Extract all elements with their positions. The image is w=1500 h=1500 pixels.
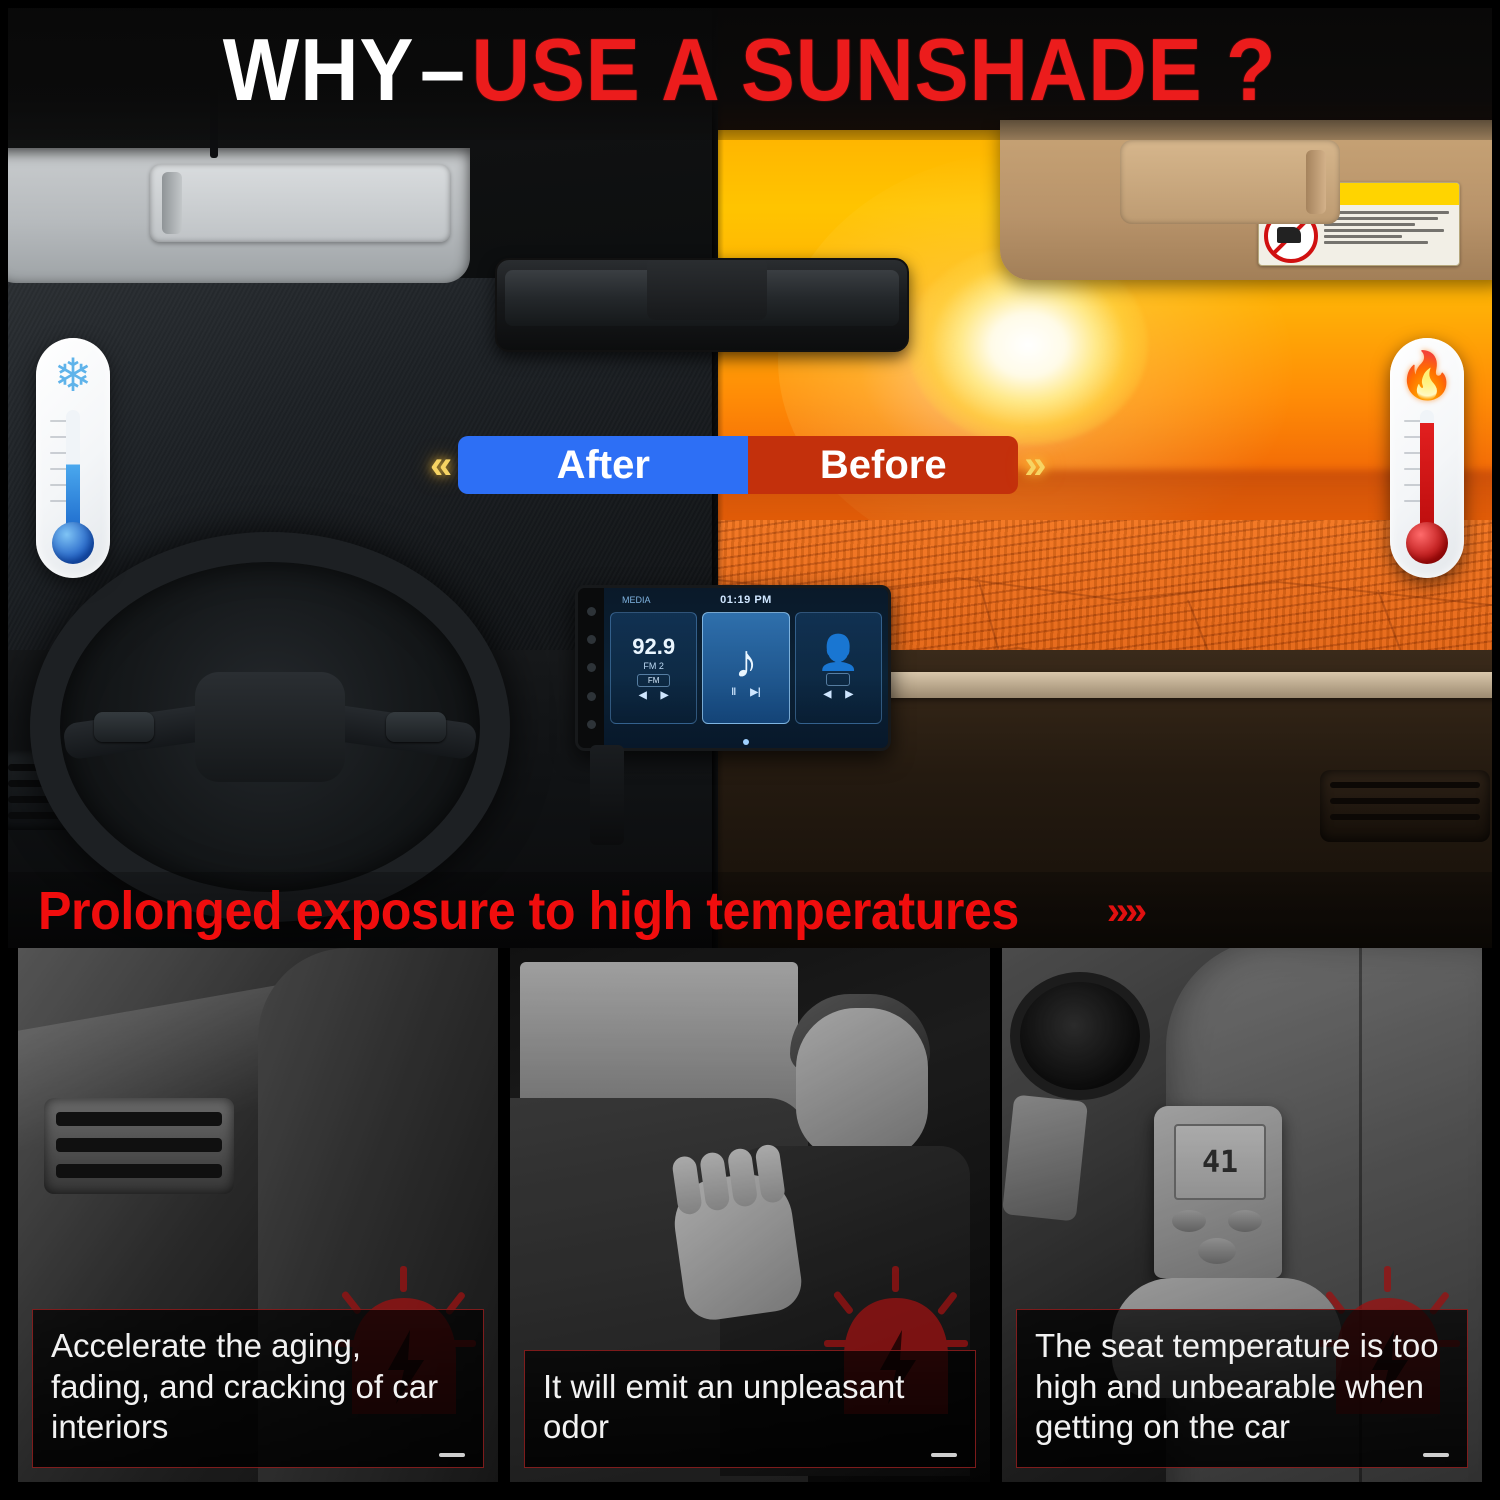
cold-thermometer: ❄	[36, 338, 110, 578]
contact-person-icon: 👤	[817, 636, 859, 670]
head-unit-tiles: 92.9 FM 2 FM ◀ ▶ ♪ ‖ ▶|	[610, 612, 882, 724]
card-odor: It will emit an unpleasant odor	[510, 948, 990, 1482]
radio-tile[interactable]: 92.9 FM 2 FM ◀ ▶	[610, 612, 697, 724]
card-seat-temp: 41 The se	[1002, 948, 1482, 1482]
hu-button-climate[interactable]	[587, 692, 596, 701]
thermometer-tube-cold	[66, 410, 80, 540]
hu-button-power[interactable]	[587, 607, 596, 616]
caption-tick	[1423, 1453, 1449, 1457]
caption-tick	[439, 1453, 465, 1457]
snowflake-icon: ❄	[54, 352, 93, 398]
hot-thermometer: 🔥	[1390, 338, 1464, 578]
media-controls[interactable]: ‖ ▶|	[731, 687, 760, 698]
air-vent-right	[1320, 770, 1490, 842]
media-tile[interactable]: ♪ ‖ ▶|	[702, 612, 789, 724]
head-unit-clock: 01:19 PM	[720, 594, 772, 606]
head-unit-mount-bracket	[590, 745, 624, 845]
radio-band: FM 2	[643, 661, 664, 671]
hu-button-home[interactable]	[587, 635, 596, 644]
music-note-icon: ♪	[734, 638, 757, 684]
rearview-mirror	[495, 258, 909, 352]
thermometer-button-right[interactable]	[1228, 1210, 1262, 1232]
flame-icon: 🔥	[1398, 352, 1455, 398]
caption-box-odor: It will emit an unpleasant odor	[524, 1350, 976, 1469]
hu-button-menu[interactable]	[587, 720, 596, 729]
warning-text-lines	[1324, 209, 1454, 263]
car-window	[520, 962, 798, 1112]
caption-tick	[931, 1453, 957, 1457]
page-title: WHY–USE A SUNSHADE ?	[223, 26, 1277, 114]
chevron-right-icon: »	[1024, 445, 1046, 485]
after-badge[interactable]: After	[458, 436, 748, 494]
headline-bar: WHY–USE A SUNSHADE ?	[0, 0, 1500, 140]
head-unit-source-label: MEDIA	[622, 595, 651, 605]
head-unit-status-bar: MEDIA 01:19 PM	[610, 592, 882, 608]
sun-visor-right: WARNING	[1000, 120, 1500, 280]
thermometer-button-mode[interactable]	[1198, 1238, 1236, 1264]
thermometer-bulb-cold	[52, 522, 94, 564]
caption-text-odor: It will emit an unpleasant odor	[543, 1367, 957, 1448]
thermometer-display: 41	[1174, 1124, 1266, 1200]
consequence-cards: Accelerate the aging, fading, and cracki…	[0, 948, 1500, 1500]
phone-prev-icon[interactable]: ◀	[824, 689, 832, 700]
caption-text-seat-temp: The seat temperature is too high and unb…	[1035, 1326, 1449, 1447]
caption-box-aging: Accelerate the aging, fading, and cracki…	[32, 1309, 484, 1468]
mirror-dashcam-module	[647, 258, 767, 320]
infrared-thermometer: 41	[1154, 1106, 1282, 1278]
before-badge[interactable]: Before	[748, 436, 1018, 494]
page-indicator-dot	[743, 739, 749, 745]
banner-prolonged-exposure: Prolonged exposure to high temperatures …	[0, 872, 1500, 950]
banner-chevrons-icon: »»	[1107, 889, 1144, 934]
phone-tile[interactable]: 👤 ◀ ▶	[795, 612, 882, 724]
before-after-toggle[interactable]: « After Before »	[430, 432, 1010, 498]
caption-box-seat-temp: The seat temperature is too high and unb…	[1016, 1309, 1468, 1468]
radio-preset-pill[interactable]: FM	[637, 674, 671, 687]
hu-button-media[interactable]	[587, 663, 596, 672]
infotainment-head-unit[interactable]: MEDIA 01:19 PM 92.9 FM 2 FM ◀ ▶ ♪	[575, 585, 891, 751]
thermometer-grip	[1002, 1094, 1088, 1221]
phone-controls[interactable]: ◀ ▶	[824, 689, 853, 700]
media-pause-icon[interactable]: ‖	[731, 687, 736, 698]
radio-frequency: 92.9	[632, 636, 675, 658]
card-aging: Accelerate the aging, fading, and cracki…	[18, 948, 498, 1482]
sun-visor-left	[0, 148, 470, 283]
title-phrase-red: USE A SUNSHADE ?	[472, 20, 1277, 119]
phone-status-pill[interactable]	[826, 673, 850, 686]
title-word-why: WHY	[223, 20, 415, 119]
steering-buttons-left	[94, 712, 154, 742]
visor-vanity-mirror-right	[1120, 140, 1340, 224]
banner-text: Prolonged exposure to high temperatures	[38, 880, 1019, 942]
thermometer-tube-hot	[1420, 410, 1434, 540]
title-dash: –	[420, 20, 466, 119]
phone-next-icon[interactable]: ▶	[845, 689, 853, 700]
thermometer-button-left[interactable]	[1172, 1210, 1206, 1232]
thermometer-bulb-hot	[1406, 522, 1448, 564]
steering-wheel-hub	[195, 672, 345, 782]
thermometer-reading: 41	[1202, 1145, 1238, 1180]
before-after-hero: WARNING	[0, 0, 1500, 950]
person-head	[796, 1008, 928, 1160]
media-skip-icon[interactable]: ▶|	[750, 687, 761, 698]
radio-controls[interactable]: ◀ ▶	[639, 690, 668, 701]
chevron-left-icon: «	[430, 445, 452, 485]
radio-prev-icon[interactable]: ◀	[639, 690, 647, 701]
steering-buttons-right	[386, 712, 446, 742]
wristwatch	[1010, 972, 1150, 1100]
head-unit-screen[interactable]: MEDIA 01:19 PM 92.9 FM 2 FM ◀ ▶ ♪	[604, 588, 888, 748]
radio-next-icon[interactable]: ▶	[661, 690, 669, 701]
caption-text-aging: Accelerate the aging, fading, and cracki…	[51, 1326, 465, 1447]
waving-hand	[669, 1168, 805, 1323]
infographic-page: WARNING	[0, 0, 1500, 1500]
defrost-vent	[44, 1098, 234, 1194]
visor-vanity-mirror	[150, 164, 450, 242]
steering-wheel	[30, 532, 510, 922]
head-unit-side-buttons[interactable]	[578, 588, 604, 748]
